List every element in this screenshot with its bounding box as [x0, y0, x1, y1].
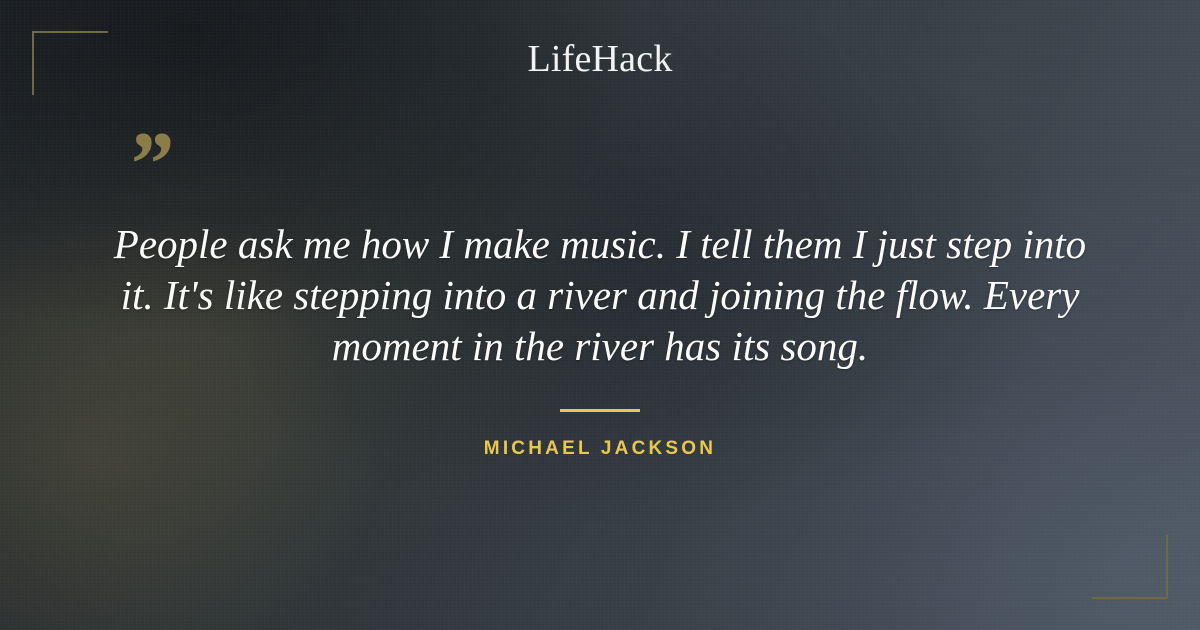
quotation-mark-icon: ”	[126, 118, 168, 210]
gold-divider-rule	[560, 409, 640, 412]
divider-container	[0, 409, 1200, 412]
quote-author: MICHAEL JACKSON	[0, 438, 1200, 460]
corner-bracket-bottom-right-icon	[1092, 535, 1168, 599]
quote-body-text: People ask me how I make music. I tell t…	[100, 219, 1100, 372]
brand-logo: LifeHack	[0, 40, 1200, 78]
quote-card: LifeHack ” People ask me how I make musi…	[0, 0, 1200, 630]
